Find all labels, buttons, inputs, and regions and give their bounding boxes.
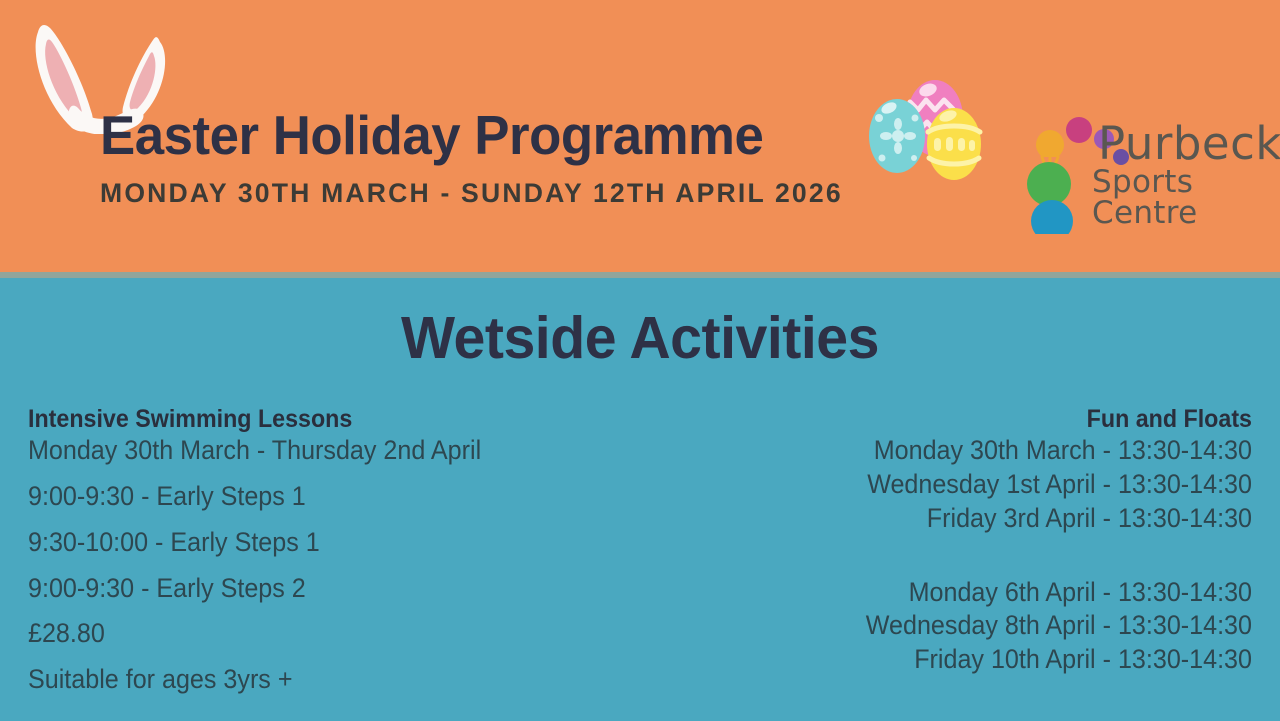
list-item: Wednesday 8th April - 13:30-14:30	[768, 610, 1252, 642]
column-intensive-swimming-lessons: Intensive Swimming Lessons Monday 30th M…	[28, 406, 628, 696]
list-item: 9:30-10:00 - Early Steps 1	[28, 527, 586, 559]
column-fun-and-floats: Fun and Floats Monday 30th March - 13:30…	[732, 406, 1252, 676]
list-item: 9:00-9:30 - Early Steps 2	[28, 573, 586, 605]
poster-body: Wetside Activities Intensive Swimming Le…	[0, 278, 1280, 721]
list-spacer	[732, 535, 1252, 575]
poster-header: Easter Holiday Programme MONDAY 30TH MAR…	[0, 0, 1280, 272]
list-item: Friday 10th April - 13:30-14:30	[768, 644, 1252, 676]
list-item: Wednesday 1st April - 13:30-14:30	[768, 469, 1252, 501]
page-title: Easter Holiday Programme	[100, 108, 964, 163]
section-heading: Wetside Activities	[19, 304, 1261, 372]
list-item: Monday 30th March - 13:30-14:30	[768, 435, 1252, 467]
list-item: Friday 3rd April - 13:30-14:30	[768, 503, 1252, 535]
list-item-price: £28.80	[28, 618, 586, 650]
list-item: 9:00-9:30 - Early Steps 1	[28, 481, 586, 513]
logo-brand-tagline: Sports Centre	[1092, 167, 1280, 229]
list-item: Monday 6th April - 13:30-14:30	[768, 577, 1252, 609]
page-subtitle: MONDAY 30TH MARCH - SUNDAY 12TH APRIL 20…	[100, 178, 987, 209]
logo-text: Purbeck Sports Centre	[1098, 122, 1280, 229]
easter-programme-poster: Easter Holiday Programme MONDAY 30TH MAR…	[0, 0, 1280, 721]
column-title-right: Fun and Floats	[768, 406, 1252, 433]
column-title-left: Intensive Swimming Lessons	[28, 406, 586, 433]
logo-brand-name: Purbeck	[1098, 122, 1280, 166]
purbeck-sports-centre-logo: Purbeck Sports Centre	[1020, 108, 1265, 234]
list-item-age-requirement: Suitable for ages 3yrs +	[28, 664, 586, 696]
list-item: Monday 30th March - Thursday 2nd April	[28, 435, 586, 467]
easter-eggs-icon	[862, 78, 992, 184]
